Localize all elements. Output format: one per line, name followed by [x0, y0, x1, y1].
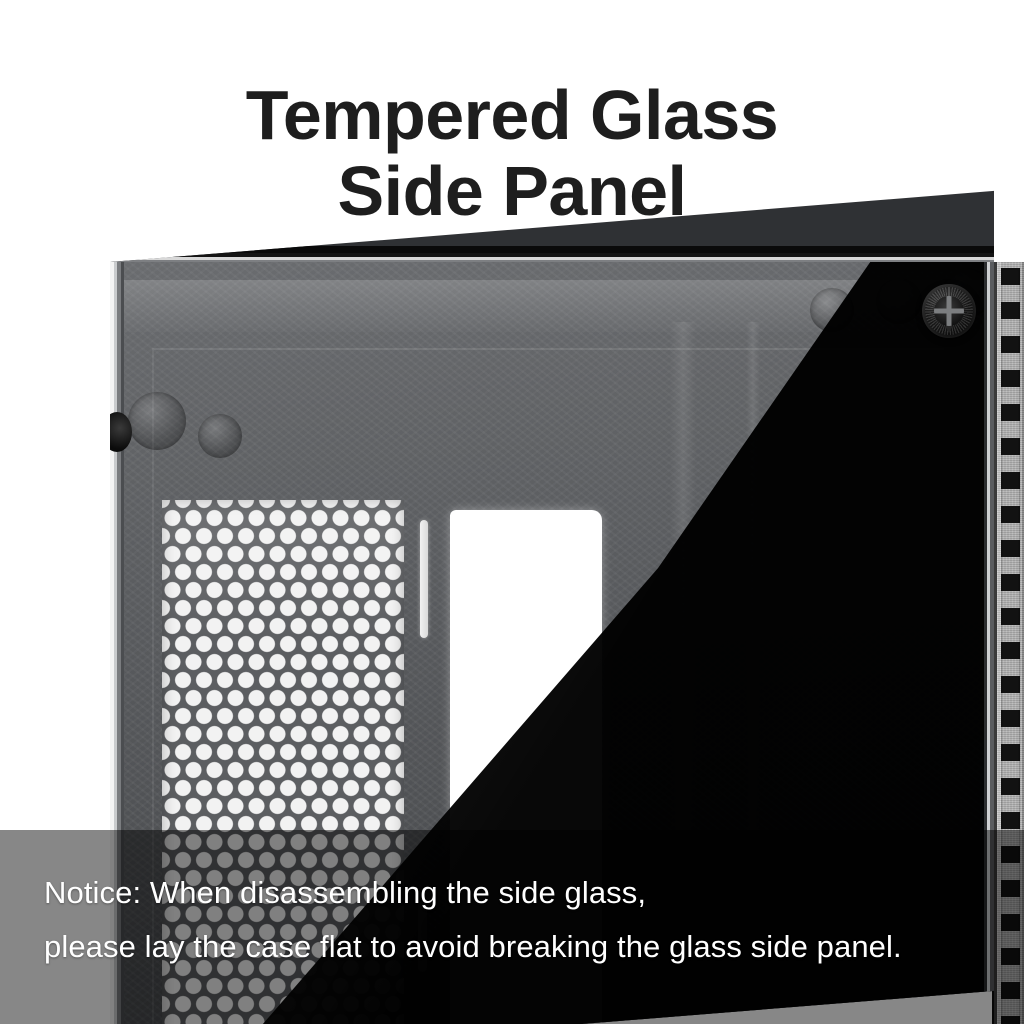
thumbscrew — [922, 284, 976, 338]
product-marketing-image: Tempered Glass Side Panel Notice: When d… — [0, 0, 1024, 1024]
standoff-boss — [128, 392, 186, 450]
interior-slot — [420, 520, 428, 638]
headline-line-2: Side Panel — [0, 154, 1024, 230]
glass-top-edge — [110, 246, 994, 262]
notice-line-1: Notice: When disassembling the side glas… — [44, 866, 984, 920]
page-title: Tempered Glass Side Panel — [0, 78, 1024, 229]
headline-line-1: Tempered Glass — [0, 78, 1024, 154]
notice-line-2: please lay the case flat to avoid breaki… — [44, 920, 984, 974]
standoff-boss — [198, 414, 242, 458]
notice-banner: Notice: When disassembling the side glas… — [0, 830, 1024, 1024]
